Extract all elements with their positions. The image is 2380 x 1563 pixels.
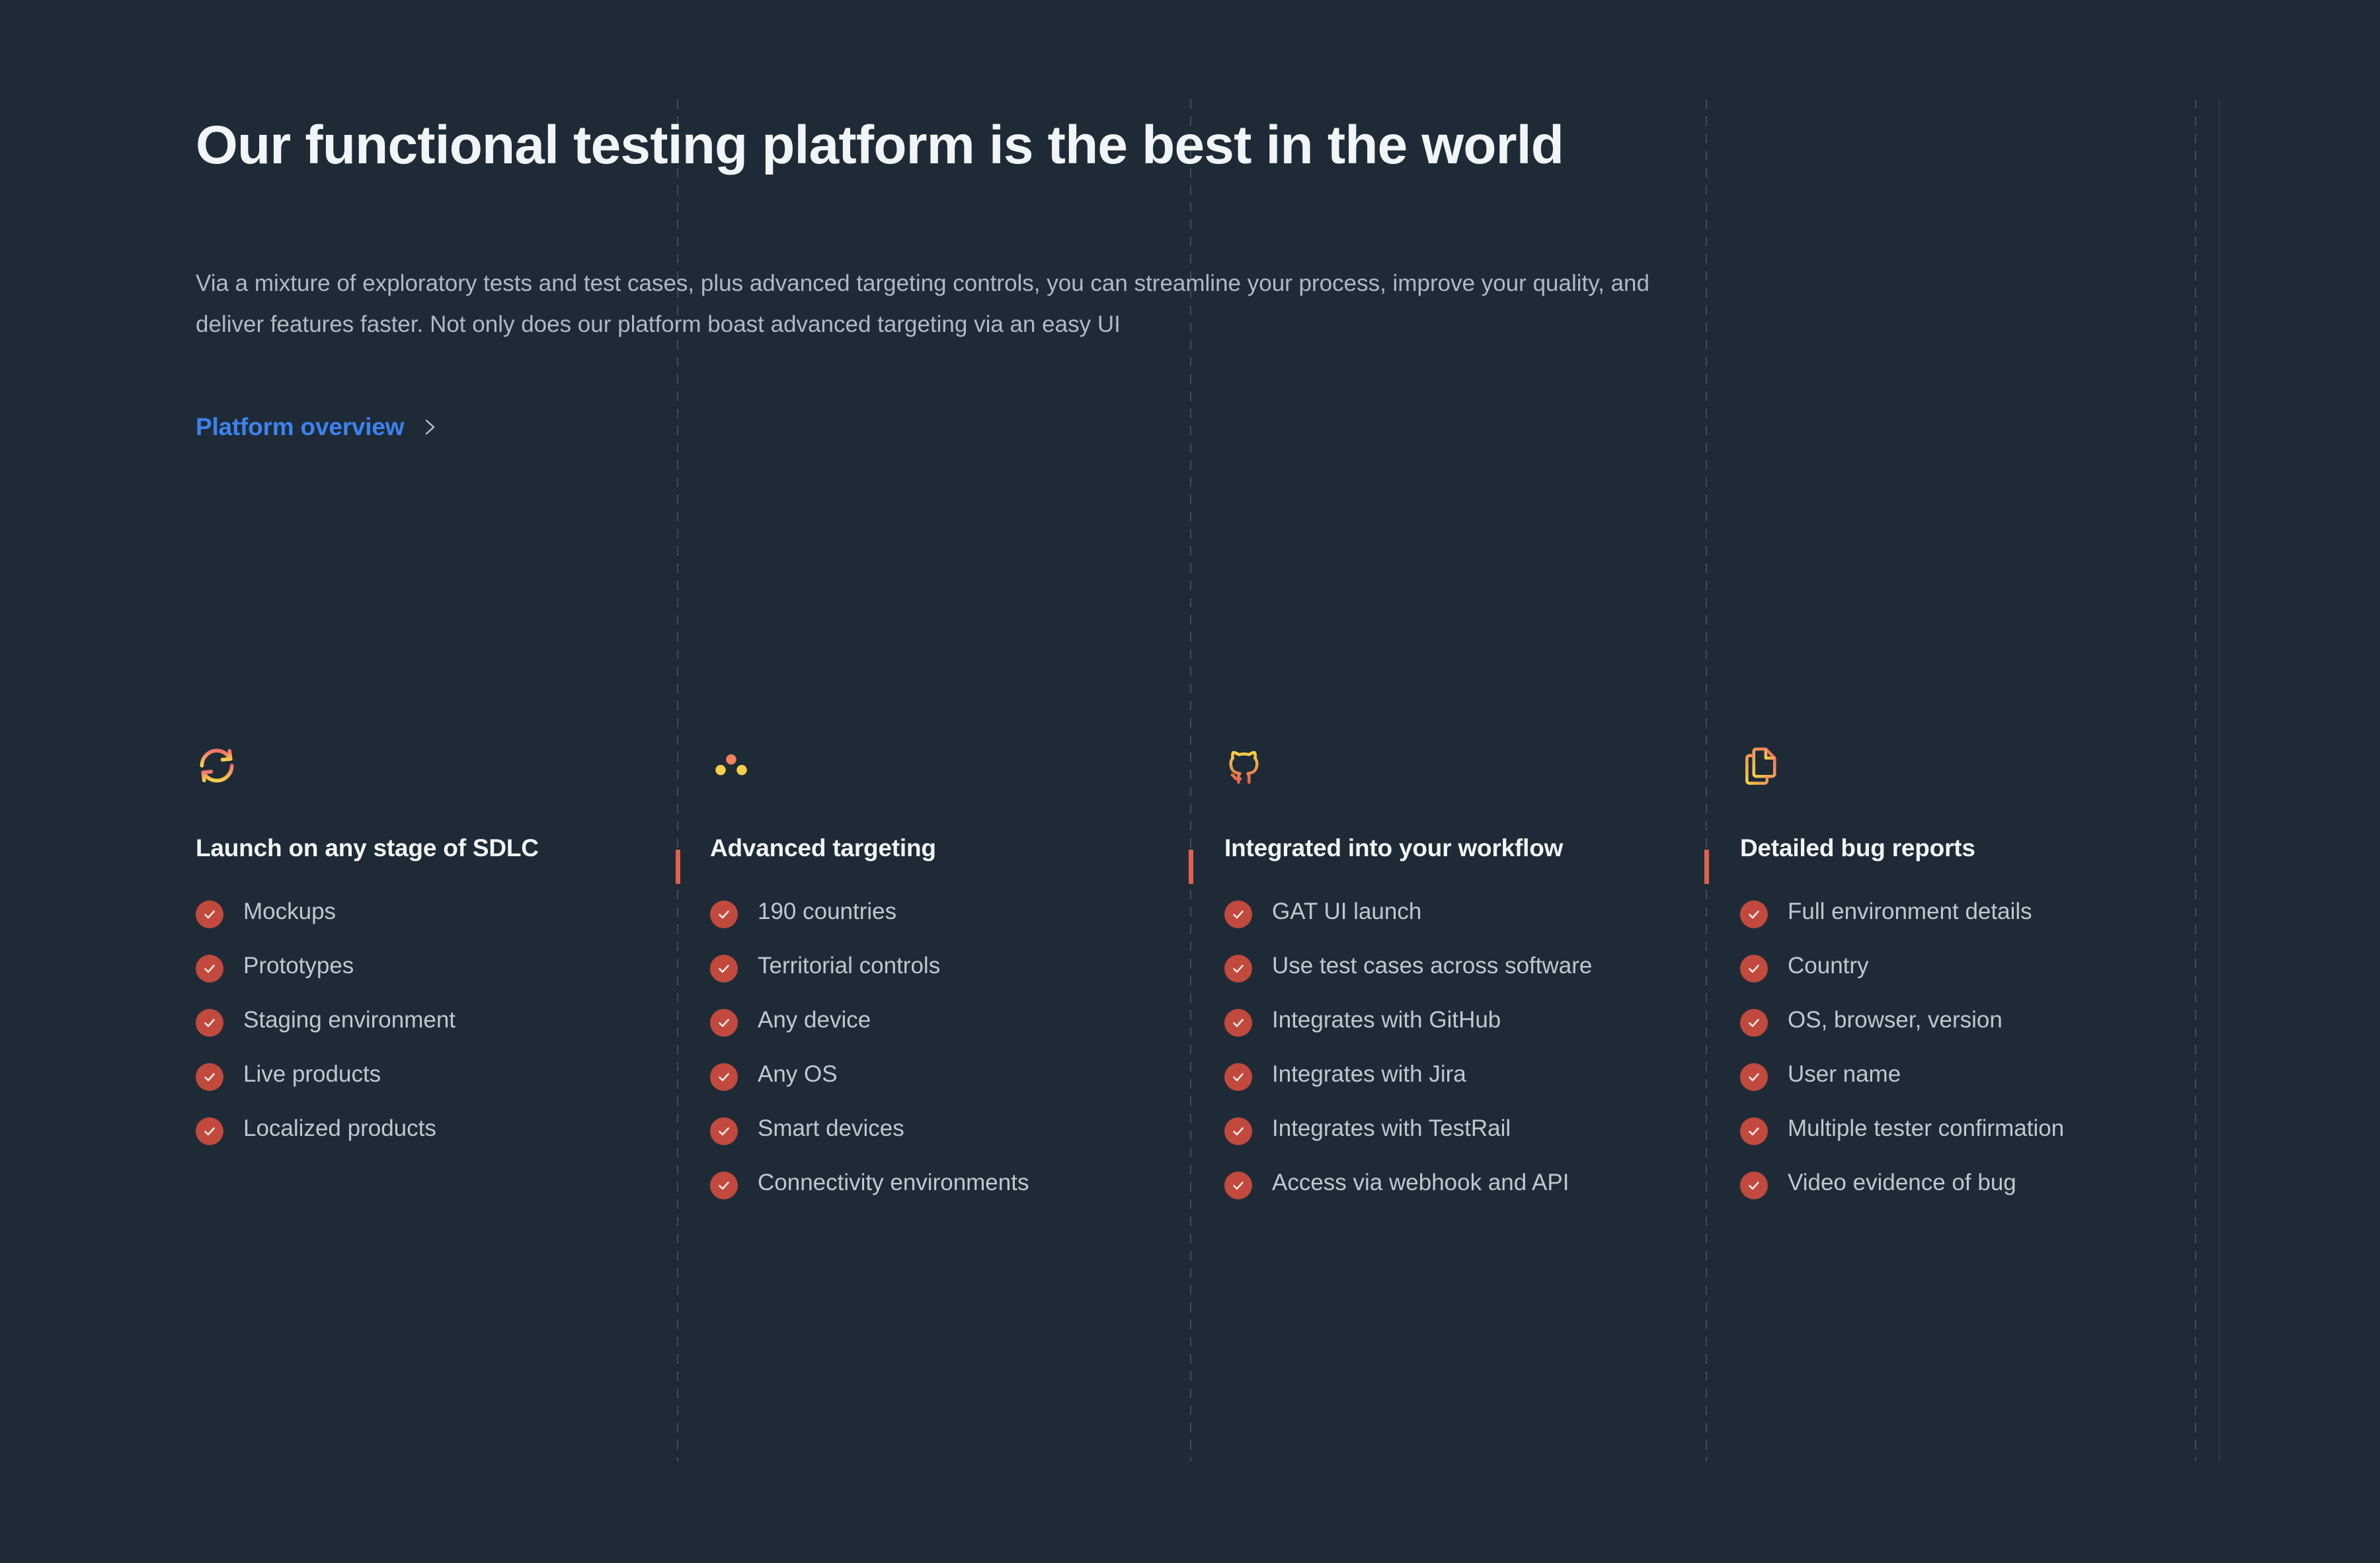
sync-refresh-icon xyxy=(196,741,658,791)
list-item: Access via webhook and API xyxy=(1224,1166,1687,1199)
list-item: Connectivity environments xyxy=(710,1166,1173,1199)
list-item: Integrates with Jira xyxy=(1224,1058,1687,1091)
list-item: 190 countries xyxy=(710,895,1173,928)
page-title: Our functional testing platform is the b… xyxy=(196,112,1663,179)
list-item-label: Territorial controls xyxy=(758,949,940,982)
check-icon xyxy=(710,901,738,928)
check-icon xyxy=(1740,1172,1768,1199)
check-icon xyxy=(1224,1063,1252,1091)
feature-list: Full environment details Country OS, bro… xyxy=(1740,895,2203,1199)
feature-column-title: Integrated into your workflow xyxy=(1224,834,1687,862)
list-item-label: Any OS xyxy=(758,1058,838,1091)
check-icon xyxy=(710,1009,738,1037)
list-item: Full environment details xyxy=(1740,895,2203,928)
list-item: GAT UI launch xyxy=(1224,895,1687,928)
list-item-label: Full environment details xyxy=(1788,895,2032,928)
check-icon xyxy=(196,1063,223,1091)
list-item: Live products xyxy=(196,1058,658,1091)
list-item-label: Integrates with TestRail xyxy=(1272,1112,1511,1145)
list-item-label: Localized products xyxy=(243,1112,436,1145)
feature-column-targeting: Advanced targeting 190 countries Territo… xyxy=(710,741,1173,1221)
list-item: Multiple tester confirmation xyxy=(1740,1112,2203,1145)
list-item-label: User name xyxy=(1788,1058,1901,1091)
feature-column-title: Detailed bug reports xyxy=(1740,834,2203,862)
list-item: Use test cases across software xyxy=(1224,949,1687,982)
feature-column-sdlc: Launch on any stage of SDLC Mockups Prot… xyxy=(196,741,658,1166)
list-item: Territorial controls xyxy=(710,949,1173,982)
list-item: Localized products xyxy=(196,1112,658,1145)
list-item-label: Use test cases across software xyxy=(1272,949,1592,982)
list-item-label: 190 countries xyxy=(758,895,896,928)
check-icon xyxy=(1224,901,1252,928)
feature-list: 190 countries Territorial controls Any d… xyxy=(710,895,1173,1199)
check-icon xyxy=(710,1063,738,1091)
check-icon xyxy=(196,1117,223,1145)
check-icon xyxy=(1740,1063,1768,1091)
check-icon xyxy=(1740,1117,1768,1145)
list-item: Country xyxy=(1740,949,2203,982)
platform-overview-label: Platform overview xyxy=(196,413,404,441)
platform-overview-link[interactable]: Platform overview xyxy=(196,413,438,441)
list-item: Mockups xyxy=(196,895,658,928)
list-item-label: Any device xyxy=(758,1004,871,1037)
list-item: Any OS xyxy=(710,1058,1173,1091)
check-icon xyxy=(196,955,223,982)
sliders-icon xyxy=(710,741,1173,791)
list-item-label: Mockups xyxy=(243,895,336,928)
check-icon xyxy=(196,1009,223,1037)
check-icon xyxy=(1224,1009,1252,1037)
feature-columns: Launch on any stage of SDLC Mockups Prot… xyxy=(0,741,2380,1468)
feature-column-bug-reports: Detailed bug reports Full environment de… xyxy=(1740,741,2203,1221)
feature-column-workflow: Integrated into your workflow GAT UI lau… xyxy=(1224,741,1687,1221)
list-item-label: Video evidence of bug xyxy=(1788,1166,2016,1199)
feature-section: Our functional testing platform is the b… xyxy=(0,0,2380,1563)
check-icon xyxy=(710,1172,738,1199)
list-item: Smart devices xyxy=(710,1112,1173,1145)
list-item: Prototypes xyxy=(196,949,658,982)
list-item: Any device xyxy=(710,1004,1173,1037)
list-item: Video evidence of bug xyxy=(1740,1166,2203,1199)
check-icon xyxy=(196,901,223,928)
feature-list: Mockups Prototypes Staging environment xyxy=(196,895,658,1145)
list-item: Staging environment xyxy=(196,1004,658,1037)
check-icon xyxy=(1224,1172,1252,1199)
chevron-right-icon xyxy=(421,419,438,436)
feature-column-title: Launch on any stage of SDLC xyxy=(196,834,658,862)
list-item-label: Integrates with Jira xyxy=(1272,1058,1466,1091)
list-item: OS, browser, version xyxy=(1740,1004,2203,1037)
list-item-label: OS, browser, version xyxy=(1788,1004,2003,1037)
check-icon xyxy=(1740,901,1768,928)
check-icon xyxy=(1740,1009,1768,1037)
feature-list: GAT UI launch Use test cases across soft… xyxy=(1224,895,1687,1199)
list-item-label: Staging environment xyxy=(243,1004,456,1037)
list-item: User name xyxy=(1740,1058,2203,1091)
list-item-label: Live products xyxy=(243,1058,381,1091)
check-icon xyxy=(1740,955,1768,982)
list-item-label: GAT UI launch xyxy=(1272,895,1421,928)
feature-column-title: Advanced targeting xyxy=(710,834,1173,862)
check-icon xyxy=(710,955,738,982)
list-item-label: Prototypes xyxy=(243,949,354,982)
hero-block: Our functional testing platform is the b… xyxy=(196,112,1677,441)
list-item-label: Country xyxy=(1788,949,1869,982)
github-icon xyxy=(1224,741,1687,791)
hero-description: Via a mixture of exploratory tests and t… xyxy=(196,263,1670,346)
check-icon xyxy=(710,1117,738,1145)
check-icon xyxy=(1224,1117,1252,1145)
list-item: Integrates with TestRail xyxy=(1224,1112,1687,1145)
list-item: Integrates with GitHub xyxy=(1224,1004,1687,1037)
copy-documents-icon xyxy=(1740,741,2203,791)
check-icon xyxy=(1224,955,1252,982)
list-item-label: Smart devices xyxy=(758,1112,904,1145)
list-item-label: Integrates with GitHub xyxy=(1272,1004,1501,1037)
list-item-label: Access via webhook and API xyxy=(1272,1166,1569,1199)
list-item-label: Multiple tester confirmation xyxy=(1788,1112,2064,1145)
list-item-label: Connectivity environments xyxy=(758,1166,1029,1199)
